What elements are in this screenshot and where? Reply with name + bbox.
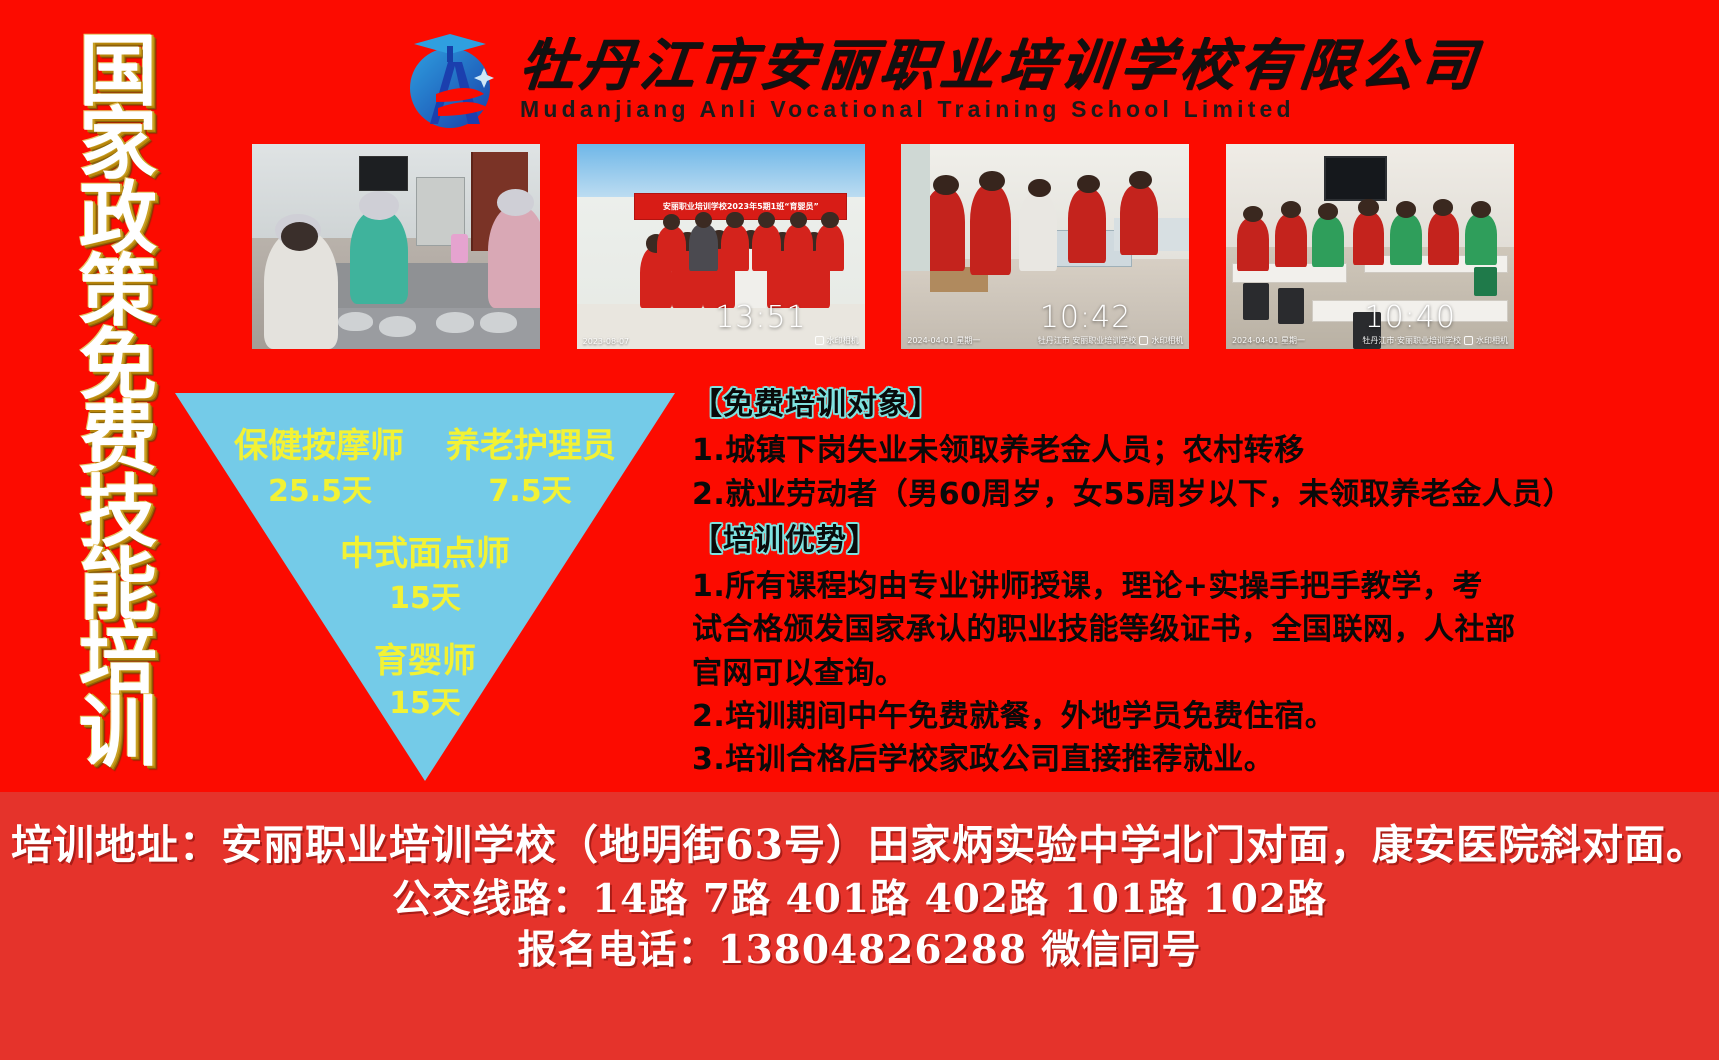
photo-watermark-label: 水印相机 — [1151, 335, 1183, 346]
photo-date: 2023-08-07 — [583, 337, 630, 346]
vertical-headline-char: 政 — [79, 181, 157, 257]
brand-text: 牡丹江市安丽职业培训学校有限公司 Mudanjiang Anli Vocatio… — [520, 37, 1480, 123]
vertical-headline-char: 训 — [79, 695, 157, 771]
advantage-line: 试合格颁发国家承认的职业技能等级证书，全国联网，人社部 — [692, 608, 1702, 651]
vertical-headline-char: 国 — [79, 34, 157, 110]
footer-contact-band: 培训地址：安丽职业培训学校（地明街63号）田家炳实验中学北门对面，康安医院斜对面… — [0, 792, 1719, 1060]
vertical-headline-char: 技 — [79, 475, 157, 551]
photo-elderly-care-practice: 10:42 2024-04-01 星期一 牡丹江市 安丽职业培训学校水印相机 — [901, 144, 1189, 349]
course-name: 育婴师 — [175, 633, 675, 682]
brand-header: 牡丹江市安丽职业培训学校有限公司 Mudanjiang Anli Vocatio… — [398, 24, 1480, 136]
camera-icon — [1464, 336, 1473, 345]
vertical-headline-char: 策 — [79, 254, 157, 330]
advantage-line: 2.培训期间中午免费就餐，外地学员免费住宿。 — [692, 695, 1702, 738]
photo-location: 牡丹江市 安丽职业培训学校 — [1038, 335, 1137, 346]
photo-watermark: 2024-04-01 星期一 牡丹江市 安丽职业培训学校水印相机 — [907, 335, 1183, 346]
vertical-headline-char: 免 — [79, 328, 157, 404]
vertical-headline-char: 费 — [79, 401, 157, 477]
advantage-line: 官网可以查询。 — [692, 652, 1702, 695]
poster-root: 国 家 政 策 免 费 技 能 培 训 — [0, 0, 1719, 1060]
photo-group-class: 安丽职业培训学校2023年5期1班“育婴员” 13:51 2023-08-07 … — [577, 144, 865, 349]
course-days: 15天 — [175, 678, 675, 722]
photo-watermark-label: 水印相机 — [1476, 335, 1508, 346]
eligibility-line: 2.就业劳动者（男60周岁，女55周岁以下，未领取养老金人员） — [692, 473, 1702, 516]
photo-strip: 安丽职业培训学校2023年5期1班“育婴员” 13:51 2023-08-07 … — [252, 144, 1514, 349]
photo-scene — [252, 144, 540, 349]
footer-phone: 报名电话：13804826288 微信同号 — [0, 926, 1719, 975]
course-funnel: 保健按摩师 养老护理员 25.5天 7.5天 中式面点师 15天 育婴师 15天 — [175, 393, 675, 781]
vertical-headline-char: 家 — [79, 107, 157, 183]
photo-location: 牡丹江市·安丽职业培训学校 — [1362, 335, 1461, 346]
section-title-eligibility: 【免费培训对象】 — [692, 386, 1702, 424]
course-name: 中式面点师 — [175, 526, 675, 575]
funnel-row-top-days: 25.5天 7.5天 — [175, 466, 675, 510]
company-name-cn: 牡丹江市安丽职业培训学校有限公司 — [517, 37, 1483, 92]
photo-timestamp: 10:40 — [1365, 300, 1456, 335]
course-name: 保健按摩师 — [224, 418, 414, 467]
camera-icon — [815, 336, 824, 345]
vertical-headline-char: 培 — [79, 622, 157, 698]
advantage-line: 3.培训合格后学校家政公司直接推荐就业。 — [692, 738, 1702, 781]
course-days: 25.5天 — [225, 466, 415, 510]
advantage-line: 1.所有课程均由专业讲师授课，理论+实操手把手教学，考 — [692, 565, 1702, 608]
vertical-headline: 国 家 政 策 免 费 技 能 培 训 — [66, 34, 170, 768]
footer-bus-routes: 公交线路：14路 7路 401路 402路 101路 102路 — [0, 875, 1719, 924]
photo-pastry-kitchen — [252, 144, 540, 349]
eligibility-line: 1.城镇下岗失业未领取养老金人员；农村转移 — [692, 429, 1702, 472]
photo-timestamp: 10:42 — [1040, 300, 1131, 335]
photo-timestamp: 13:51 — [715, 300, 806, 335]
course-name: 养老护理员 — [436, 418, 626, 467]
graduation-cap-logo-icon — [398, 24, 506, 136]
course-days: 7.5天 — [435, 466, 625, 510]
photo-watermark: 2024-04-01 星期一 牡丹江市·安丽职业培训学校水印相机 — [1232, 335, 1508, 346]
camera-icon — [1139, 336, 1148, 345]
photo-classroom-lecture: 10:40 2024-04-01 星期一 牡丹江市·安丽职业培训学校水印相机 — [1226, 144, 1514, 349]
photo-date: 2024-04-01 星期一 — [1232, 335, 1305, 346]
course-days: 15天 — [175, 573, 675, 617]
section-title-advantages: 【培训优势】 — [692, 522, 1702, 560]
photo-watermark: 2023-08-07 水印相机 — [583, 335, 859, 346]
footer-address: 培训地址：安丽职业培训学校（地明街63号）田家炳实验中学北门对面，康安医院斜对面… — [0, 820, 1719, 871]
funnel-row-top-names: 保健按摩师 养老护理员 — [175, 418, 675, 467]
photo-date: 2024-04-01 星期一 — [907, 335, 980, 346]
info-column: 【免费培训对象】 1.城镇下岗失业未领取养老金人员；农村转移 2.就业劳动者（男… — [692, 386, 1702, 781]
photo-watermark-label: 水印相机 — [827, 335, 859, 346]
company-name-en: Mudanjiang Anli Vocational Training Scho… — [520, 96, 1480, 123]
vertical-headline-char: 能 — [79, 548, 157, 624]
